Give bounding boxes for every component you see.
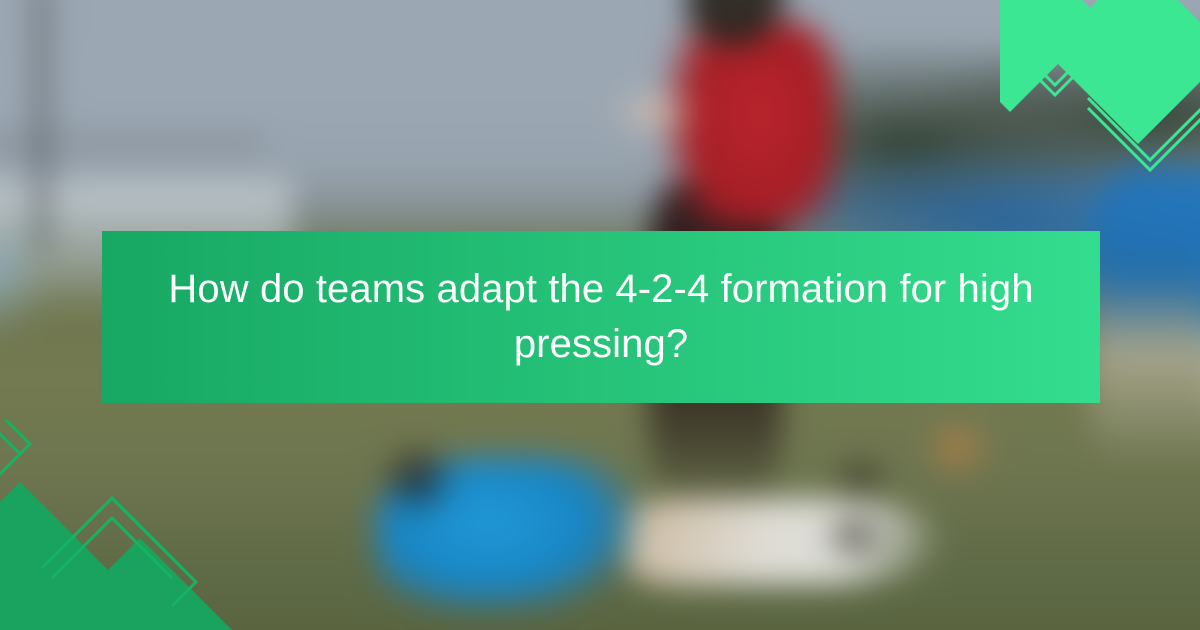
ball-blur (922, 422, 992, 478)
right-blue-player-blur (1090, 164, 1200, 466)
blue-player-head-blur (379, 446, 456, 518)
boot-blur-b (831, 454, 890, 502)
blue-player-legs-blur (628, 498, 936, 585)
page-title: How do teams adapt the 4-2-4 formation f… (148, 262, 1054, 372)
pole-blur (31, 0, 53, 251)
headline-banner: How do teams adapt the 4-2-4 formation f… (102, 231, 1100, 403)
quote-card: How do teams adapt the 4-2-4 formation f… (0, 0, 1200, 630)
boot-blur-a (824, 510, 883, 562)
red-player-arm-blur (607, 84, 705, 140)
left-figure-blur (0, 220, 54, 347)
